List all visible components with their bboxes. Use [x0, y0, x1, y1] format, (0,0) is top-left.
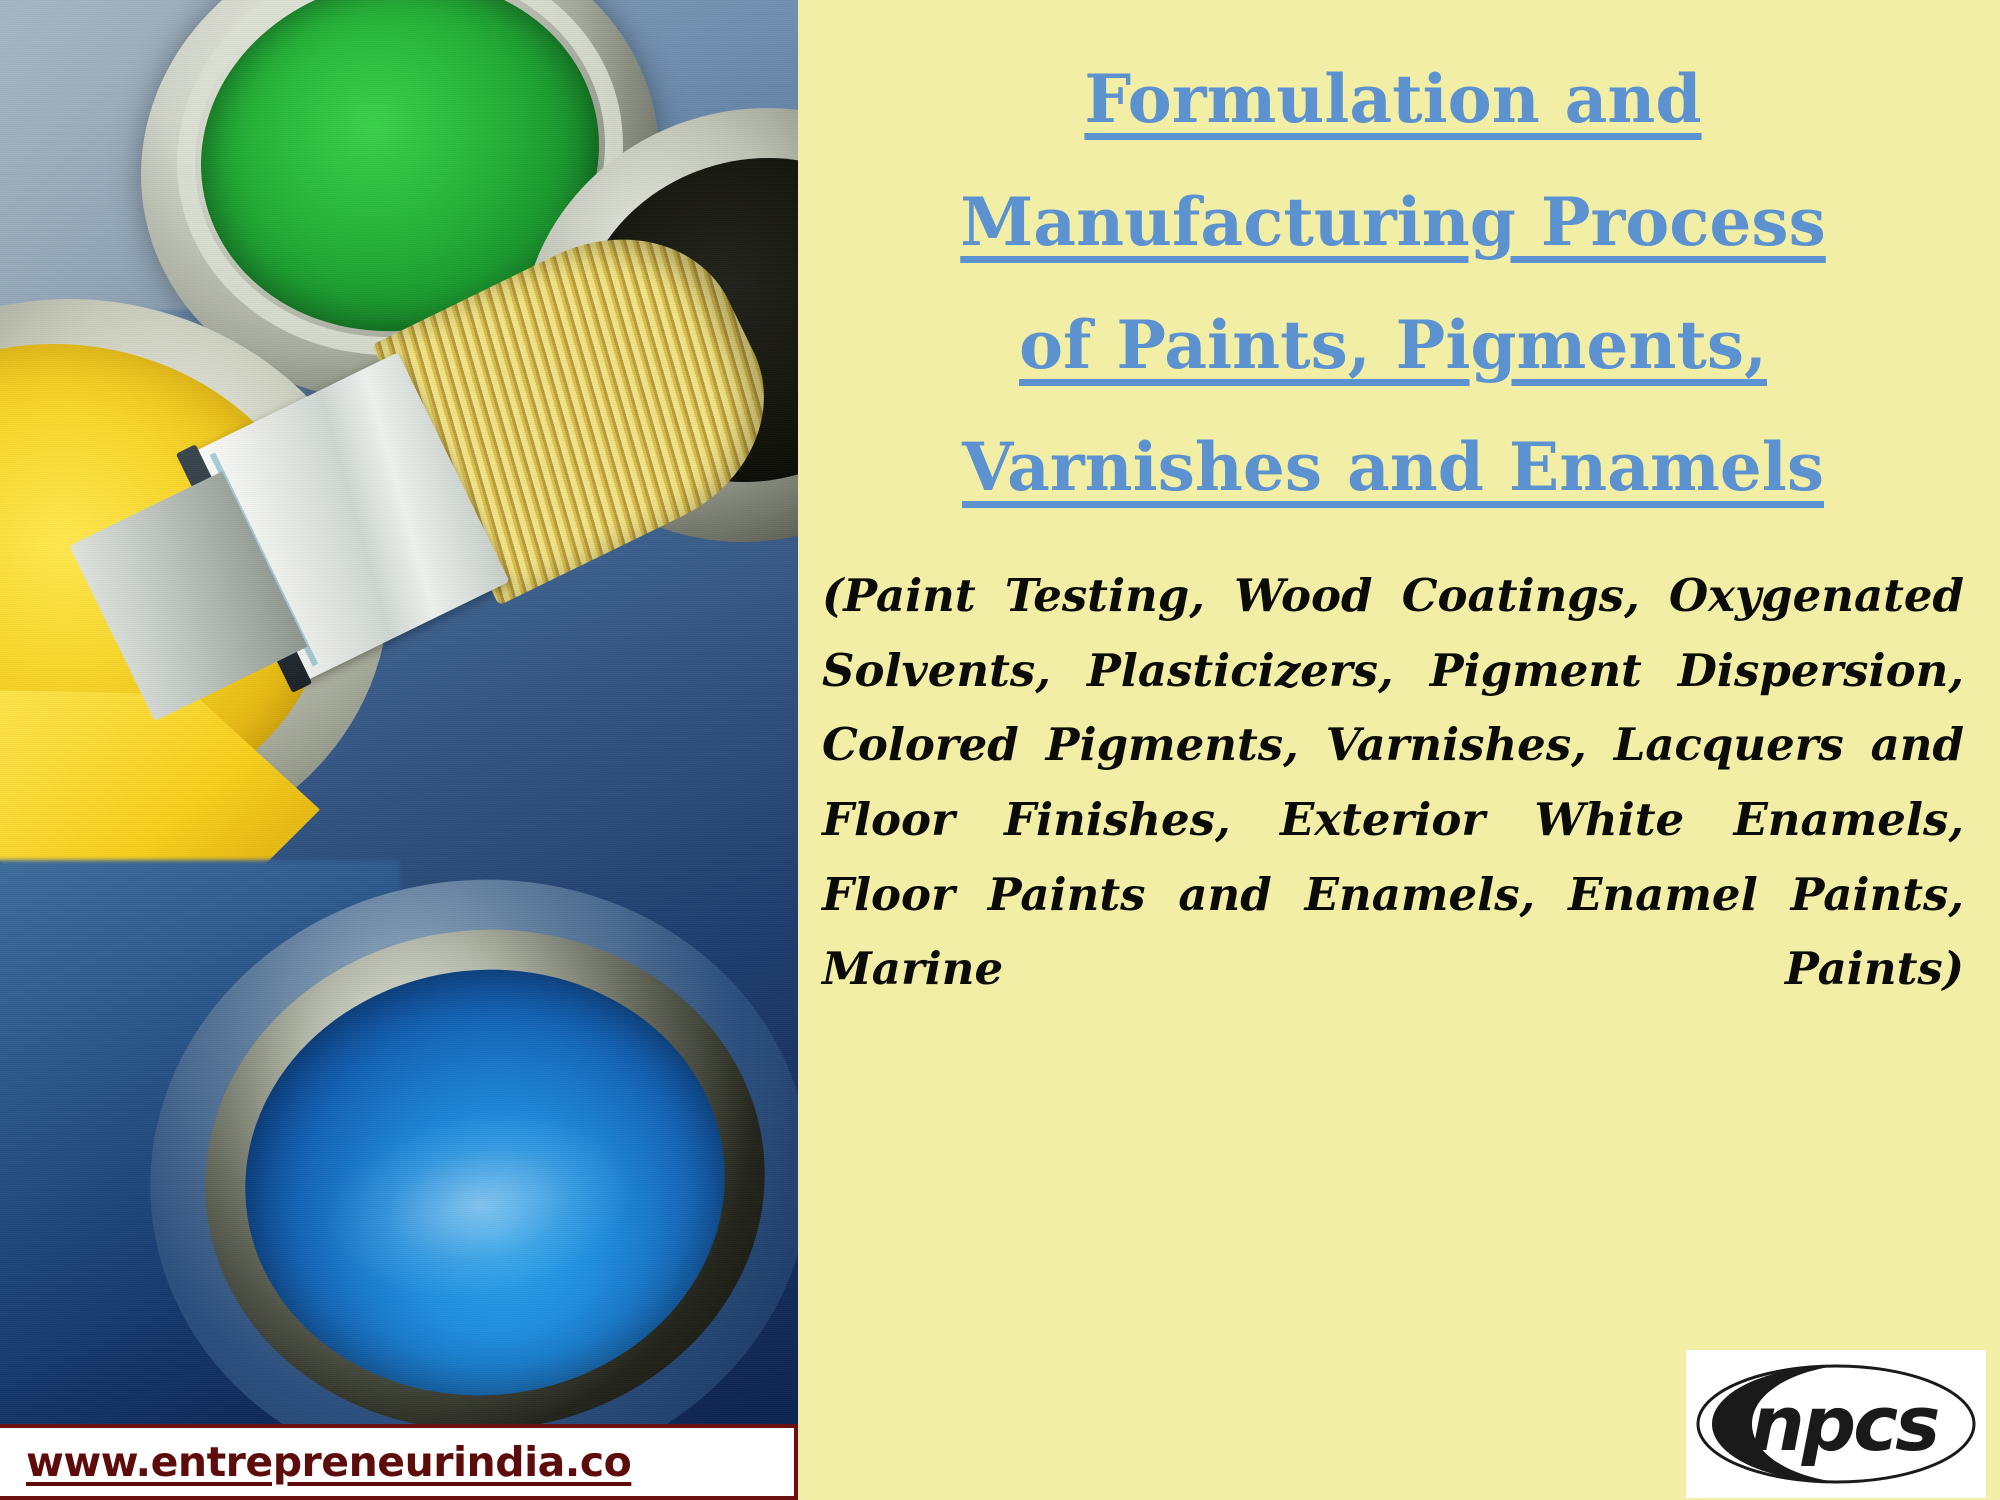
npcs-wordmark: npcs	[1751, 1379, 1939, 1468]
page-title-line-3: of Paints, Pigments,	[822, 284, 1964, 407]
paint-cans-photo	[0, 0, 798, 1424]
npcs-logo-icon: npcs	[1686, 1350, 1986, 1498]
page-subtitle: (Paint Testing, Wood Coatings, Oxygenate…	[822, 529, 1964, 1082]
poster-root: www.entrepreneurindia.co Formulation and…	[0, 0, 2000, 1500]
page-title-line-1: Formulation and	[822, 38, 1964, 161]
page-title-line-2: Manufacturing Process	[822, 161, 1964, 284]
website-url-link[interactable]: www.entrepreneurindia.co	[26, 1438, 631, 1486]
page-title: Formulation and Manufacturing Process of…	[822, 0, 1964, 529]
page-title-line-4: Varnishes and Enamels	[822, 406, 1964, 529]
content-panel: Formulation and Manufacturing Process of…	[798, 0, 2000, 1500]
product-photo	[0, 0, 798, 1424]
npcs-logo: npcs	[1686, 1350, 1986, 1498]
website-url-bar[interactable]: www.entrepreneurindia.co	[0, 1424, 798, 1500]
